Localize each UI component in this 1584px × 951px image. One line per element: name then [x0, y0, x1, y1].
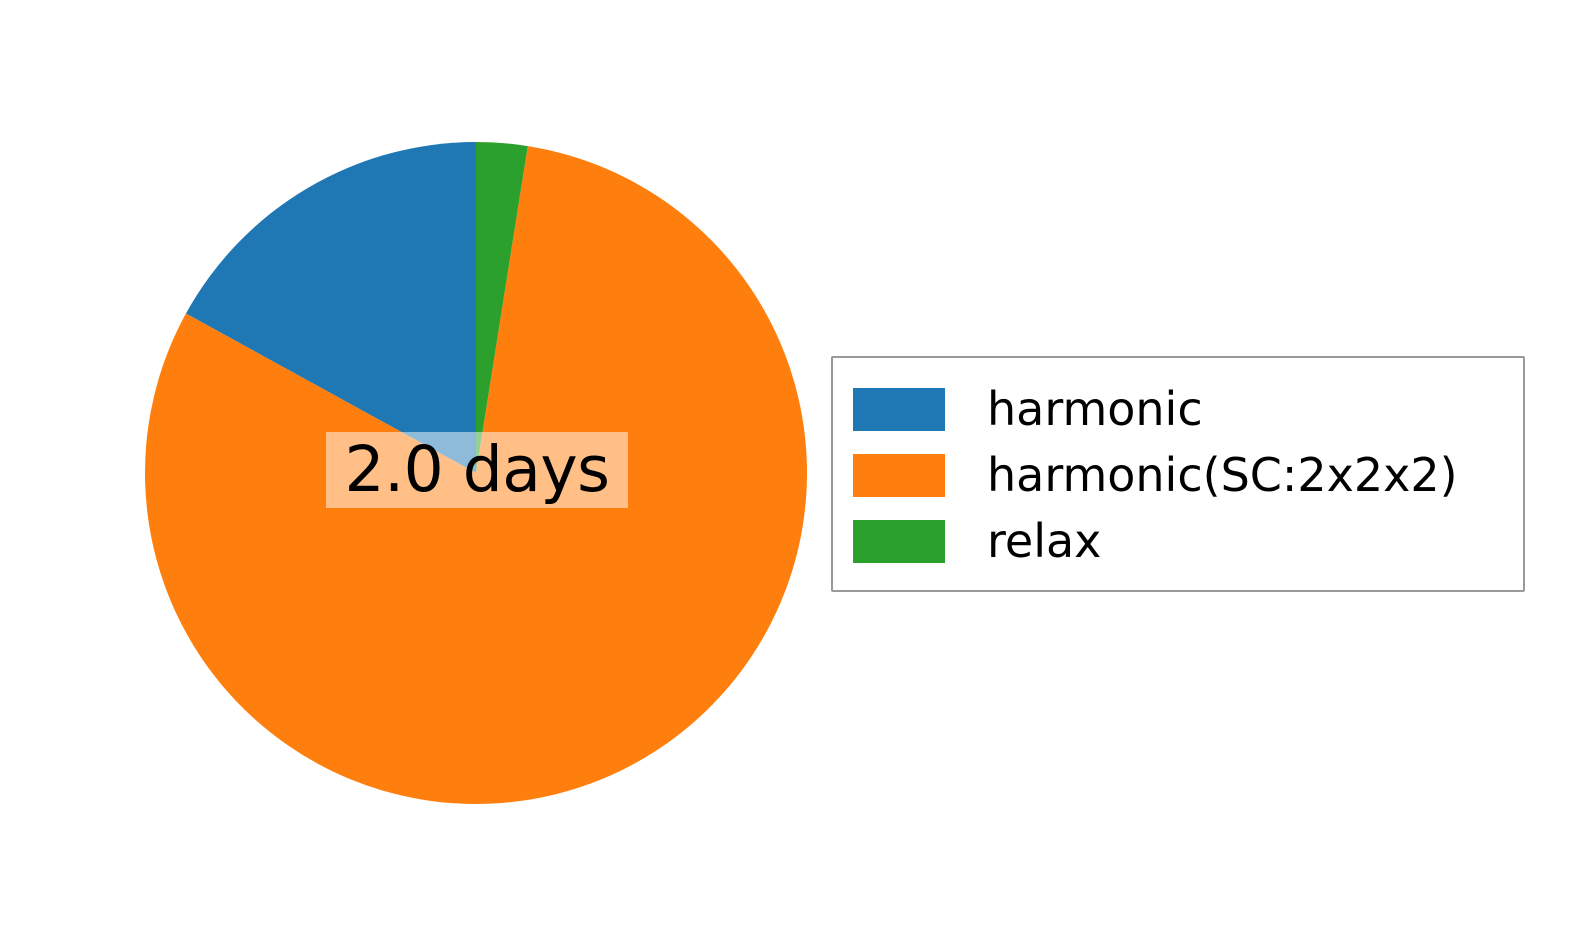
legend-item-label: harmonic [987, 386, 1203, 432]
legend-color-swatch [853, 388, 945, 431]
figure-canvas: 2.0 days harmonicharmonic(SC:2x2x2)relax [0, 0, 1584, 951]
legend-item-list: harmonicharmonic(SC:2x2x2)relax [833, 358, 1523, 590]
legend-item[interactable]: relax [853, 508, 1523, 574]
legend-color-swatch [853, 454, 945, 497]
center-total-text: 2.0 days [345, 432, 610, 508]
legend-item-label: harmonic(SC:2x2x2) [987, 452, 1458, 498]
legend-item-label: relax [987, 518, 1101, 564]
legend: harmonicharmonic(SC:2x2x2)relax [831, 356, 1525, 592]
legend-item[interactable]: harmonic(SC:2x2x2) [853, 442, 1523, 508]
legend-color-swatch [853, 520, 945, 563]
legend-item[interactable]: harmonic [853, 376, 1523, 442]
center-total-label: 2.0 days [326, 432, 628, 508]
